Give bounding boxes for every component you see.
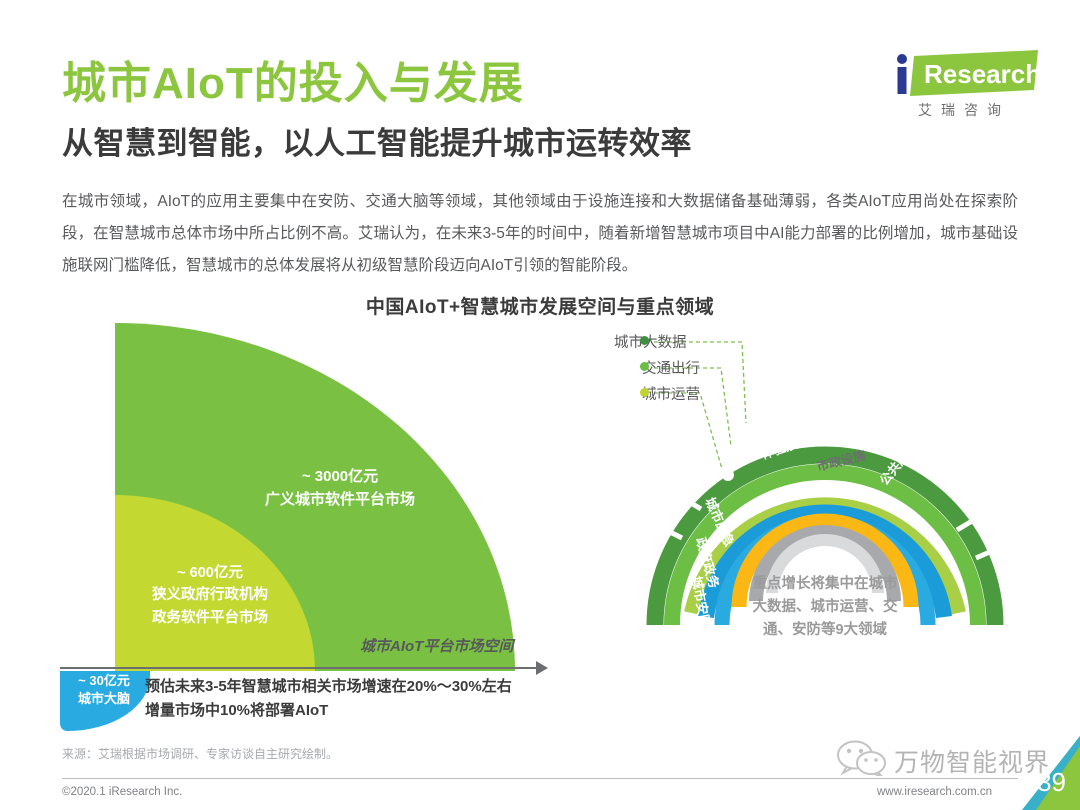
callout-dot-1: [640, 362, 649, 371]
iresearch-logo-mark: Research: [888, 50, 1038, 96]
label-narrow-name-1: 狭义政府行政机构: [100, 584, 320, 606]
x-axis-label: 城市AIoT平台市场空间: [360, 635, 513, 656]
chart-note-line-2: 增量市场中10%将部署AIoT: [145, 699, 565, 723]
callout-dot-0: [640, 336, 649, 345]
source-note: 来源：艾瑞根据市场调研、专家访谈自主研究绘制。: [62, 745, 338, 762]
arch-center-line-3: 通、安防等9大领域: [715, 619, 935, 642]
footer-divider: [62, 778, 1018, 779]
chart-note-line-1: 预估未来3-5年智慧城市相关市场增速在20%～30%左右: [145, 675, 565, 699]
callout-label-0: 城市大数据: [614, 331, 687, 352]
callout-dot-2: [640, 388, 649, 397]
chart-title: 中国AIoT+智慧城市发展空间与重点领域: [0, 292, 1080, 319]
arch-dot-3: [722, 469, 734, 481]
label-narrow-name-2: 政务软件平台市场: [100, 607, 320, 629]
label-city-brain: ~ 30亿元 城市大脑: [60, 672, 148, 707]
svg-text:Research: Research: [924, 59, 1038, 89]
arch-center-text: 重点增长将集中在城市 大数据、城市运营、交 通、安防等9大领域: [715, 573, 935, 643]
label-city-brain-name: 城市大脑: [60, 690, 148, 708]
callout-label-2: 城市运营: [642, 383, 700, 404]
page-subtitle: 从智慧到智能，以人工智能提升城市运转效率: [62, 128, 692, 159]
chart-note: 预估未来3-5年智慧城市相关市场增速在20%～30%左右 增量市场中10%将部署…: [145, 675, 565, 723]
footer-website[interactable]: www.iresearch.com.cn: [877, 786, 992, 798]
body-paragraph: 在城市领域，AIoT的应用主要集中在安防、交通大脑等领域，其他领域由于设施连接和…: [62, 186, 1018, 281]
slide-root: 城市AIoT的投入与发展 从智慧到智能，以人工智能提升城市运转效率 Resear…: [0, 0, 1080, 810]
page-number: 39: [1037, 767, 1066, 798]
wechat-icon: [836, 740, 888, 776]
label-narrow-market: ~ 600亿元 狭义政府行政机构 政务软件平台市场: [100, 562, 320, 629]
x-axis-line: [60, 667, 540, 669]
label-narrow-value: ~ 600亿元: [100, 562, 320, 584]
label-broad-name: 广义城市软件平台市场: [210, 488, 470, 511]
arch-center-line-1: 重点增长将集中在城市: [715, 573, 935, 596]
page-title: 城市AIoT的投入与发展: [62, 62, 524, 106]
quarter-circle-chart: ~ 3000亿元 广义城市软件平台市场 ~ 600亿元 狭义政府行政机构 政务软…: [60, 320, 560, 720]
arch-dot-1: [742, 423, 754, 435]
iresearch-logo-cn: 艾瑞咨询: [894, 100, 1034, 120]
iresearch-logo: Research 艾瑞咨询: [888, 50, 1038, 130]
arch-diagram: 城市应急 政府政务 城市安防 公共服务 市政设施 体验展示 城市大数据 交通出行…: [600, 325, 1040, 685]
callout-label-1: 交通出行: [642, 357, 700, 378]
x-axis-arrow-icon: [536, 661, 548, 675]
footer-copyright: ©2020.1 iResearch Inc.: [62, 786, 182, 798]
label-broad-value: ~ 3000亿元: [210, 465, 470, 488]
arch-dot-2: [731, 446, 743, 458]
label-broad-market: ~ 3000亿元 广义城市软件平台市场: [210, 465, 470, 512]
arch-center-line-2: 大数据、城市运营、交: [715, 596, 935, 619]
label-city-brain-value: ~ 30亿元: [60, 672, 148, 690]
